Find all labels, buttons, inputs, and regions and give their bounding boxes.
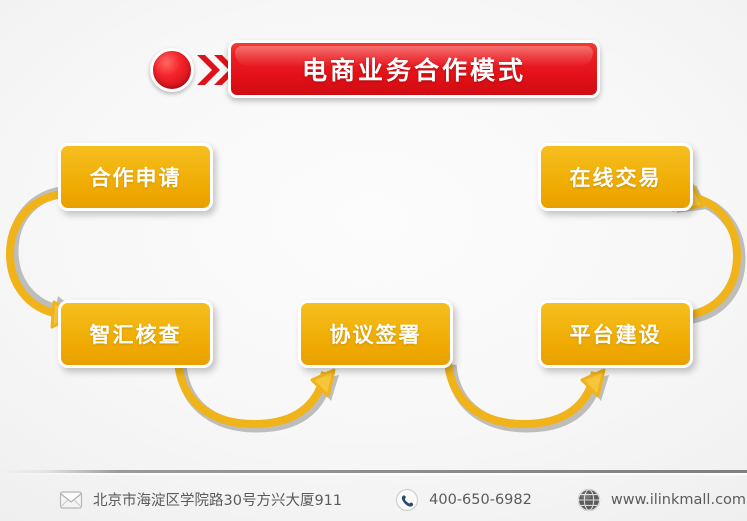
flow-node-label: 合作申请 — [90, 162, 182, 192]
page-title: 电商业务合作模式 — [302, 51, 526, 87]
flow-node-sign[interactable]: 协议签署 — [298, 300, 453, 368]
flow-node-label: 智汇核查 — [90, 319, 182, 349]
flow-node-apply[interactable]: 合作申请 — [58, 143, 213, 211]
flow-node-trade[interactable]: 在线交易 — [538, 143, 693, 211]
flow-arrow-sign-to-platform — [438, 358, 608, 436]
flow-node-platform[interactable]: 平台建设 — [538, 300, 693, 368]
red-sphere-icon — [150, 48, 194, 92]
footer-website-text: www.ilinkmall.com — [611, 492, 746, 508]
footer-phone: 400-650-6982 — [394, 487, 532, 513]
envelope-icon — [58, 487, 84, 513]
flow-arrow-verify-to-sign — [168, 358, 338, 436]
title-banner: 电商业务合作模式 — [150, 40, 600, 98]
footer-website: www.ilinkmall.com — [576, 487, 746, 513]
telephone-icon — [394, 487, 420, 513]
flow-node-label: 协议签署 — [330, 319, 422, 349]
flow-node-label: 平台建设 — [570, 319, 662, 349]
globe-icon — [576, 487, 602, 513]
footer-phone-text: 400-650-6982 — [429, 492, 532, 508]
footer-address: 北京市海淀区学院路30号方兴大厦911 — [58, 487, 342, 513]
footer-divider — [0, 470, 747, 473]
flow-node-verify[interactable]: 智汇核查 — [58, 300, 213, 368]
title-banner-bar: 电商业务合作模式 — [228, 40, 600, 98]
flow-node-label: 在线交易 — [570, 162, 662, 192]
footer-address-text: 北京市海淀区学院路30号方兴大厦911 — [93, 489, 342, 510]
footer: 北京市海淀区学院路30号方兴大厦911 400-650-6982 www.ili… — [0, 478, 747, 521]
